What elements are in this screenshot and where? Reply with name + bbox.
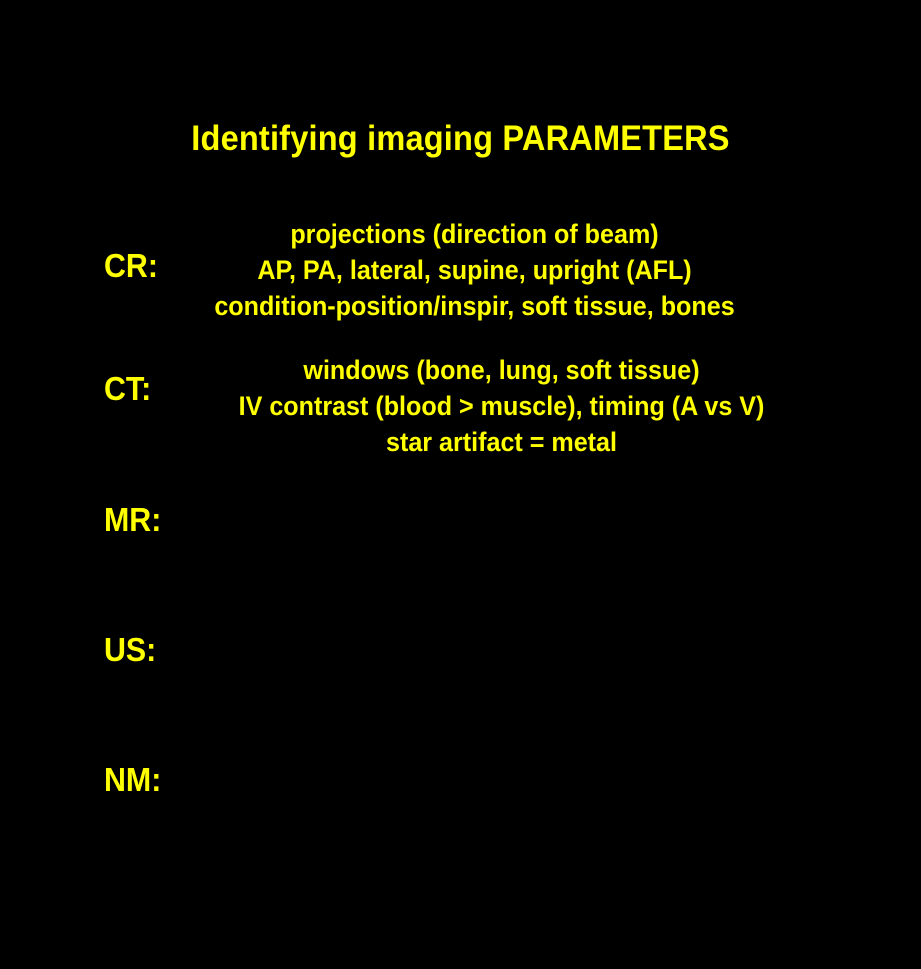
section-nm: NM: xyxy=(0,763,921,809)
content-line: IV contrast (blood > muscle), timing (A … xyxy=(189,388,813,424)
section-label-us: US: xyxy=(104,633,156,666)
section-ct: CT: windows (bone, lung, soft tissue) IV… xyxy=(0,352,921,467)
content-line: condition-position/inspir, soft tissue, … xyxy=(162,288,786,324)
section-label-mr: MR: xyxy=(104,503,161,536)
section-us: US: xyxy=(0,633,921,679)
section-content-cr: projections (direction of beam) AP, PA, … xyxy=(162,216,786,324)
section-label-nm: NM: xyxy=(104,763,161,796)
content-line: star artifact = metal xyxy=(189,424,813,460)
content-line: AP, PA, lateral, supine, upright (AFL) xyxy=(162,252,786,288)
section-cr: CR: projections (direction of beam) AP, … xyxy=(0,216,921,331)
section-label-cr: CR: xyxy=(104,249,158,282)
section-label-ct: CT: xyxy=(104,372,151,405)
section-mr: MR: xyxy=(0,503,921,549)
presentation-slide: Identifying imaging PARAMETERS CR: proje… xyxy=(0,0,921,969)
content-line: windows (bone, lung, soft tissue) xyxy=(189,352,813,388)
content-line: projections (direction of beam) xyxy=(162,216,786,252)
page-title: Identifying imaging PARAMETERS xyxy=(32,119,889,159)
section-content-ct: windows (bone, lung, soft tissue) IV con… xyxy=(189,352,813,460)
